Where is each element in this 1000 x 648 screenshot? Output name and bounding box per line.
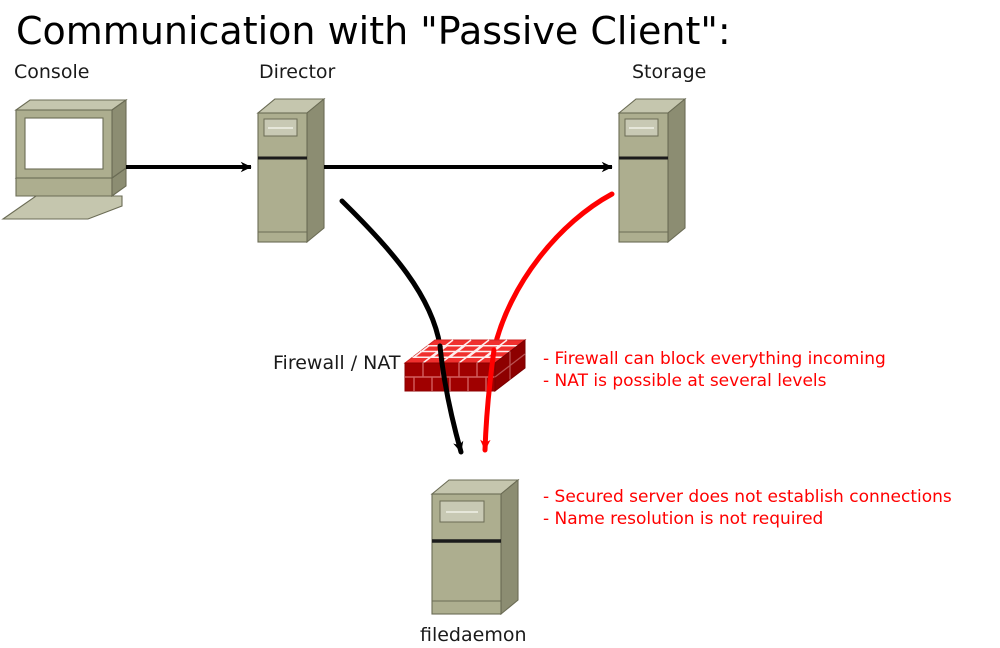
console-monitor-top [16, 100, 126, 110]
connection-storage-to-filedaemon-upper [494, 194, 612, 350]
node-storage[interactable] [619, 99, 685, 242]
node-label-filedaemon: filedaemon [420, 624, 527, 646]
annotation-firewall-line-1: - Firewall can block everything incoming [543, 349, 886, 369]
annotation-filedaemon-line-2: - Name resolution is not required [543, 509, 823, 529]
annotation-firewall-line-2: - NAT is possible at several levels [543, 371, 827, 391]
page-title: Communication with "Passive Client": [16, 9, 731, 53]
node-label-director: Director [259, 61, 336, 83]
node-filedaemon[interactable] [432, 480, 518, 614]
console-base-front [16, 178, 112, 196]
node-label-storage: Storage [632, 61, 706, 83]
diagram-canvas: Communication with "Passive Client": Con… [0, 0, 1000, 648]
director-side-face [307, 99, 324, 242]
console-screen [25, 118, 103, 169]
connection-director-to-filedaemon-upper [342, 201, 440, 346]
node-director[interactable] [258, 99, 324, 242]
annotation-filedaemon-line-1: - Secured server does not establish conn… [543, 487, 952, 507]
filedaemon-side-face [501, 480, 518, 614]
annotation-filedaemon-notes: - Secured server does not establish conn… [543, 487, 952, 529]
console-keyboard [3, 196, 122, 219]
storage-side-face [668, 99, 685, 242]
node-firewall[interactable] [405, 340, 525, 391]
annotation-firewall-notes: - Firewall can block everything incoming… [543, 349, 886, 391]
node-label-firewall: Firewall / NAT [273, 352, 401, 374]
node-label-console: Console [14, 61, 89, 83]
node-console[interactable] [3, 100, 126, 219]
console-monitor-side [112, 100, 126, 178]
